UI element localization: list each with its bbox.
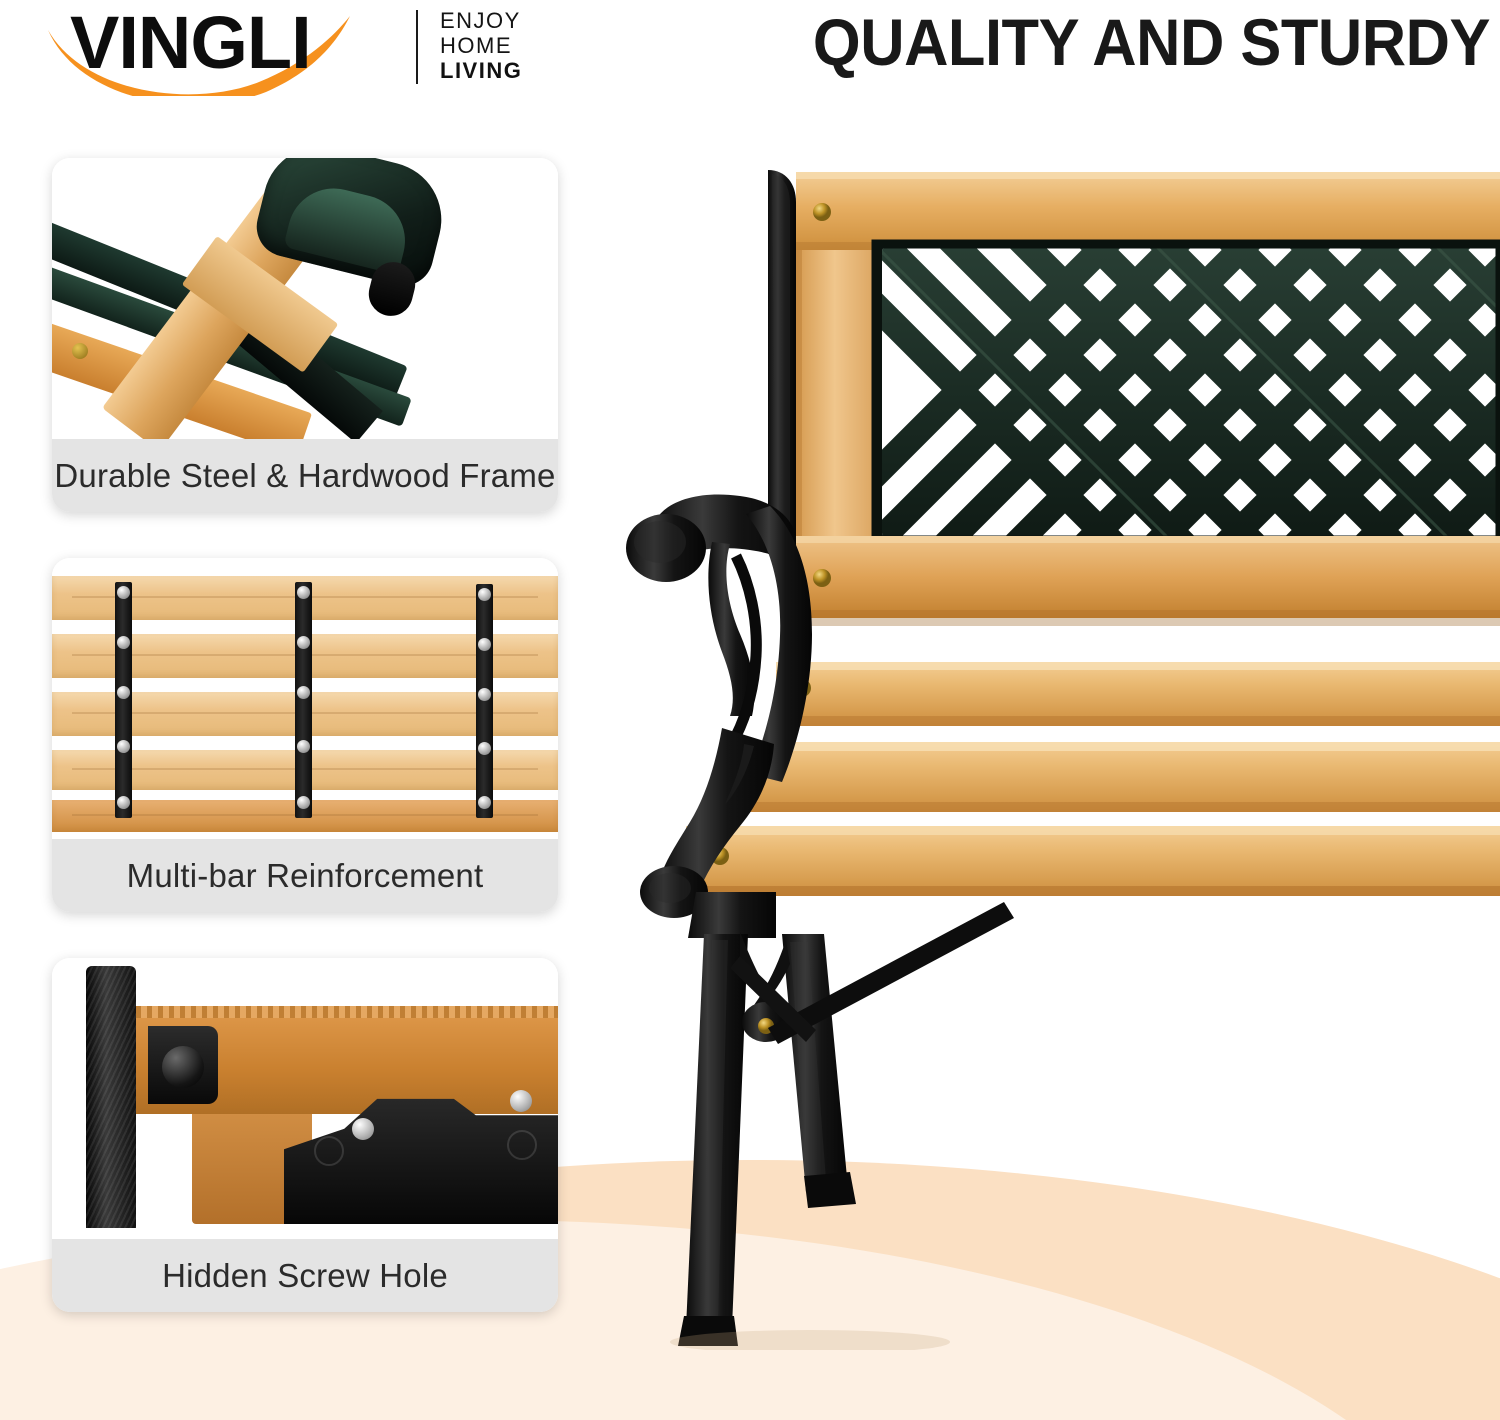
page-title: QUALITY AND STURDY: [625, 2, 1490, 82]
feature-card: Multi-bar Reinforcement: [52, 558, 558, 912]
feature-card-list: Durable Steel & Hardwood Frame: [52, 158, 558, 1358]
feature-caption-text: Durable Steel & Hardwood Frame: [54, 457, 555, 495]
feature-caption: Hidden Screw Hole: [52, 1239, 558, 1312]
feature-card: Hidden Screw Hole: [52, 958, 558, 1312]
tagline-line-1: ENJOY: [440, 8, 570, 33]
tagline-line-2: HOME: [440, 33, 570, 58]
brand-logo: VINGLI ENJOY HOME LIVING: [44, 2, 544, 102]
logo-divider: [416, 10, 418, 84]
feature-caption-text: Multi-bar Reinforcement: [127, 857, 484, 895]
product-photo-bench: [600, 150, 1500, 1350]
feature-caption: Durable Steel & Hardwood Frame: [52, 439, 558, 512]
feature-caption-text: Hidden Screw Hole: [162, 1257, 448, 1295]
marketing-image-canvas: VINGLI ENJOY HOME LIVING QUALITY AND STU…: [0, 0, 1500, 1420]
feature-photo-hidden-screw: [52, 958, 558, 1239]
feature-caption: Multi-bar Reinforcement: [52, 839, 558, 912]
tagline-line-3: LIVING: [440, 58, 570, 83]
feature-card: Durable Steel & Hardwood Frame: [52, 158, 558, 512]
header: VINGLI ENJOY HOME LIVING QUALITY AND STU…: [0, 0, 1500, 110]
brand-wordmark: VINGLI: [70, 6, 311, 80]
feature-photo-multibar: [52, 558, 558, 839]
feature-photo-durable-frame: [52, 158, 558, 439]
brand-tagline: ENJOY HOME LIVING: [440, 8, 570, 83]
